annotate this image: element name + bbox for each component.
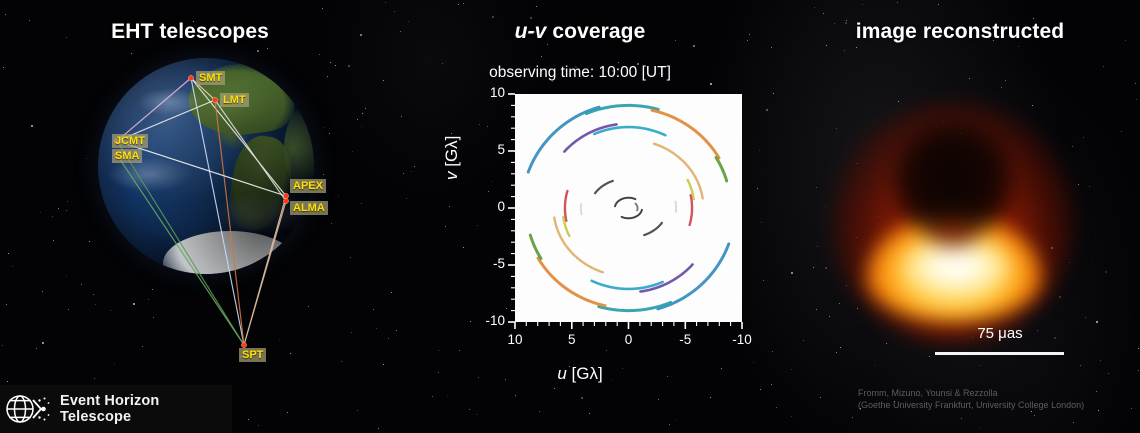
credit-line-1: Fromm, Mizuno, Younsi & Rezzolla xyxy=(858,388,1084,400)
image-credits: Fromm, Mizuno, Younsi & Rezzolla (Goethe… xyxy=(858,388,1084,411)
uv-ytick-label: -10 xyxy=(453,313,505,328)
uv-xtick-label: -5 xyxy=(661,332,709,347)
telescope-label-apex: APEX xyxy=(290,179,326,193)
baseline-jcmt-spt xyxy=(117,141,244,345)
black-hole-image xyxy=(828,96,1078,346)
uv-coverage-panel: u-v coverage observing time: 10:00 [UT] … xyxy=(380,0,780,433)
telescope-label-smt: SMT xyxy=(196,71,225,85)
telescope-marker-alma xyxy=(283,198,288,203)
telescope-label-alma: ALMA xyxy=(290,201,328,215)
black-hole-emission xyxy=(828,96,1078,346)
uv-ylabel-rest: [Gλ] xyxy=(442,136,461,172)
scale-bar-line xyxy=(935,352,1064,355)
eht-logo: Event Horizon Telescope xyxy=(0,385,232,433)
telescope-label-sma: SMA xyxy=(112,149,142,163)
uv-xlabel-italic: u xyxy=(557,364,566,383)
baseline-network xyxy=(0,0,380,433)
telescope-label-spt: SPT xyxy=(239,348,266,362)
baseline-smt-jcmt xyxy=(117,78,191,141)
telescope-marker-spt xyxy=(241,342,246,347)
telescope-label-lmt: LMT xyxy=(220,93,249,107)
uv-xtick-label: 0 xyxy=(605,332,653,347)
telescope-marker-lmt xyxy=(212,97,217,102)
uv-ytick-label: -5 xyxy=(453,256,505,271)
uv-xtick-label: 5 xyxy=(548,332,596,347)
uv-xtick-label: -10 xyxy=(718,332,766,347)
page-title-reconstructed: image reconstructed xyxy=(780,20,1140,44)
eht-logo-text: Event Horizon Telescope xyxy=(60,393,232,425)
telescope-label-jcmt: JCMT xyxy=(112,134,148,148)
uv-y-axis-title: v [Gλ] xyxy=(442,136,462,180)
uv-xtick-label: 10 xyxy=(491,332,539,347)
eht-visualization-figure: EHT telescopes SMTLMTJCMTSMAAPEXALMASPT xyxy=(0,0,1140,433)
telescope-marker-apex xyxy=(283,193,288,198)
uv-ylabel-italic: v xyxy=(442,172,461,181)
telescope-marker-smt xyxy=(188,75,193,80)
baseline-alma-spt xyxy=(244,201,286,345)
uv-xlabel-rest: [Gλ] xyxy=(567,364,603,383)
uv-x-axis-title: u [Gλ] xyxy=(380,364,780,384)
reconstructed-image-panel: image reconstructed 75 μas Fromm, Mizuno… xyxy=(780,0,1140,433)
credit-line-2: (Goethe University Frankfurt, University… xyxy=(858,400,1084,412)
scale-bar-label: 75 μas xyxy=(930,325,1070,342)
uv-ytick-label: 0 xyxy=(453,199,505,214)
globe-grid-icon xyxy=(4,387,56,431)
uv-ytick-label: 10 xyxy=(453,85,505,100)
shadow-notch xyxy=(924,220,982,250)
eht-telescopes-panel: EHT telescopes SMTLMTJCMTSMAAPEXALMASPT xyxy=(0,0,380,433)
